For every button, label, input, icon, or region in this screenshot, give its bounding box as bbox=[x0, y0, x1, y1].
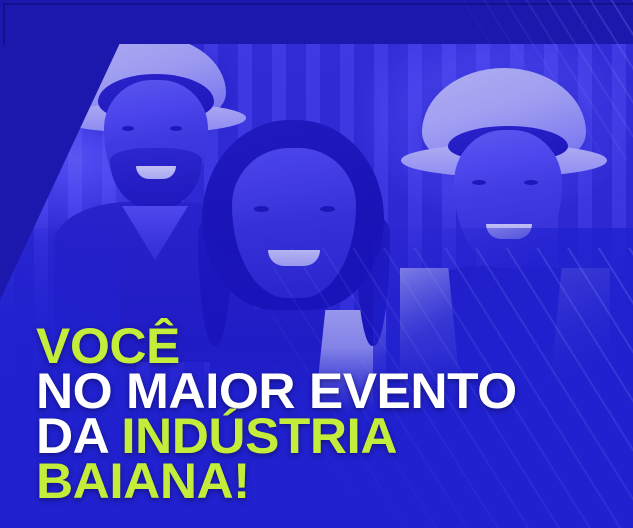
headline-line-4: BAIANA! bbox=[36, 459, 517, 504]
top-band bbox=[0, 0, 633, 44]
poster-canvas: VOCÊ NO MAIOR EVENTO DA INDÚSTRIA BAIANA… bbox=[0, 0, 633, 528]
headline-block: VOCÊ NO MAIOR EVENTO DA INDÚSTRIA BAIANA… bbox=[36, 324, 503, 504]
top-band-rule bbox=[3, 3, 633, 5]
left-edge-rule bbox=[3, 3, 5, 45]
